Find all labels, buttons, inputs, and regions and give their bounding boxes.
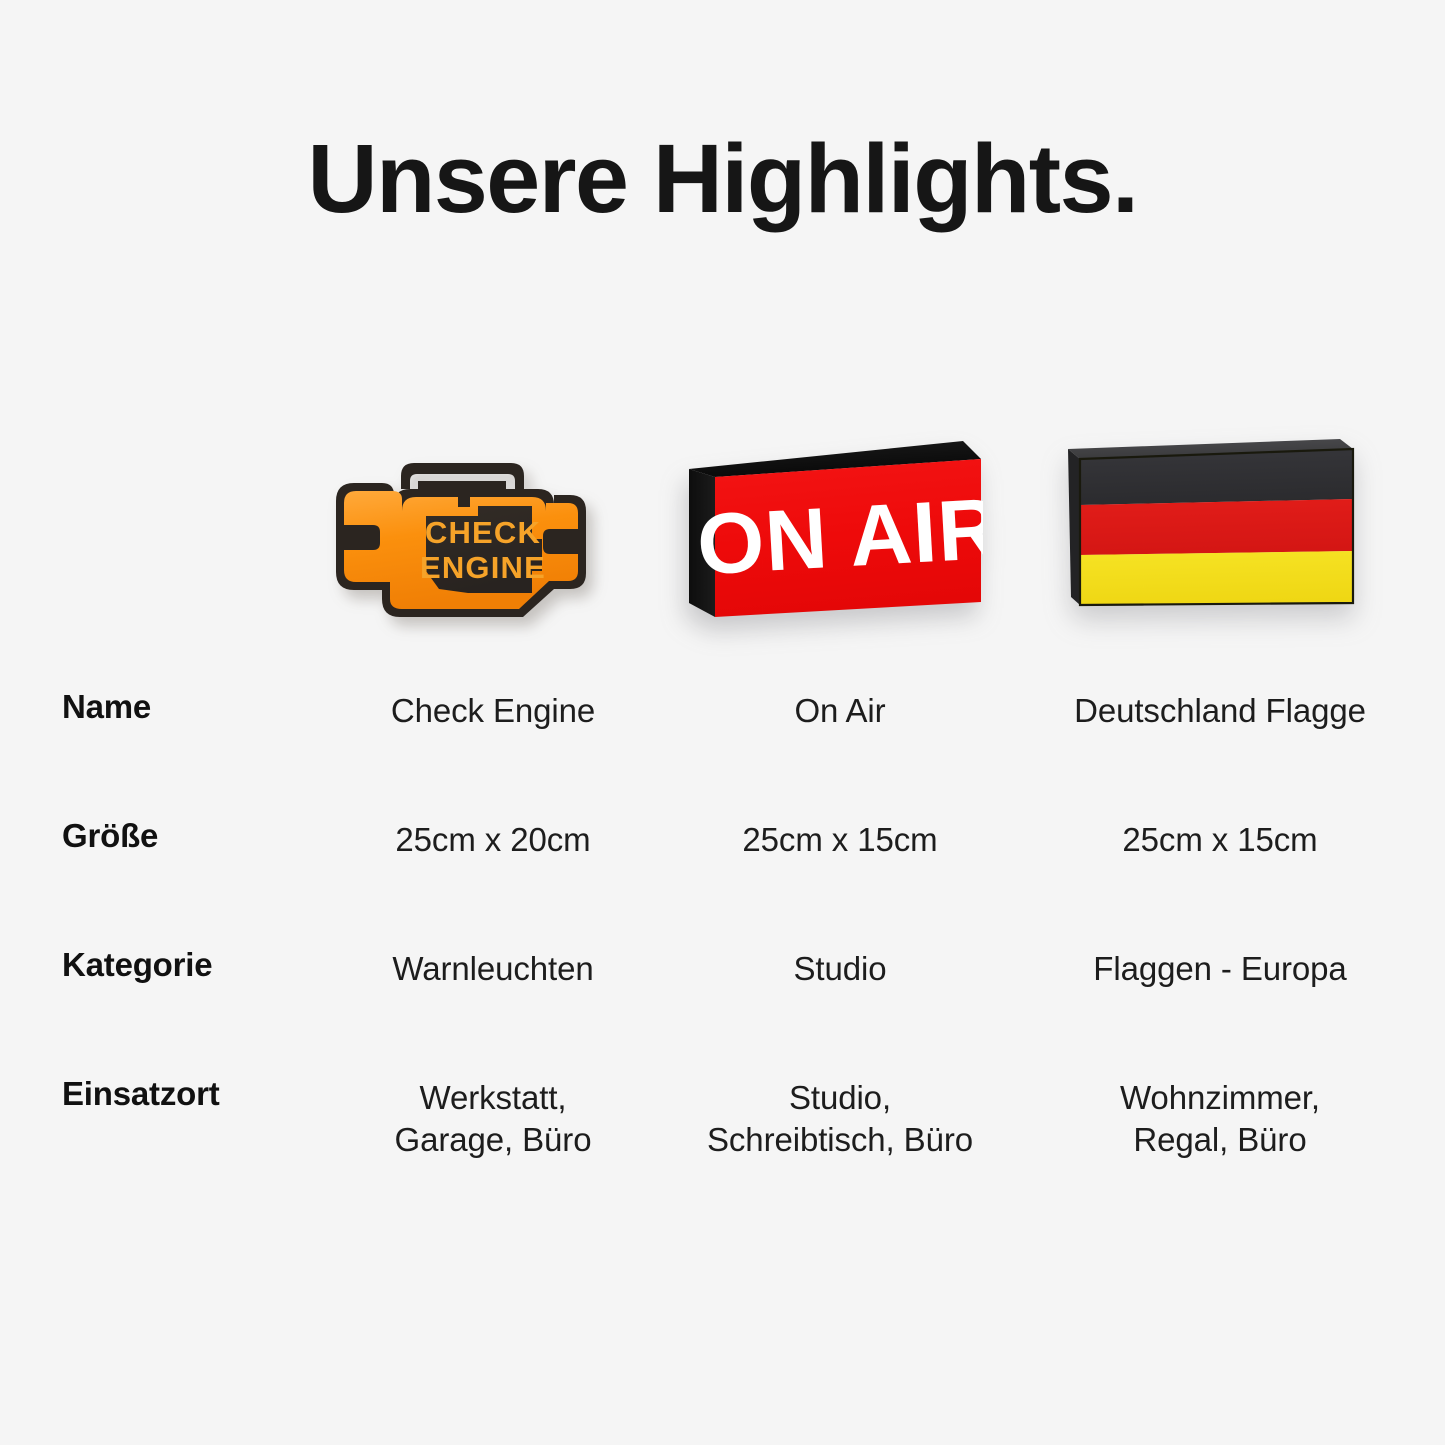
cell-einsatzort-check-engine: Werkstatt, Garage, Büro	[328, 1077, 658, 1161]
check-engine-lamp-icon: CHECK ENGINE	[318, 421, 628, 646]
cell-line-1: Studio,	[660, 1077, 1020, 1119]
cell-name-on-air: On Air	[660, 690, 1020, 732]
highlights-infographic: Unsere Highlights.	[0, 0, 1445, 1445]
cell-line-1: Wohnzimmer,	[1020, 1077, 1420, 1119]
table-row-einsatzort: Einsatzort Werkstatt, Garage, Büro Studi…	[0, 1077, 1445, 1227]
cell-einsatzort-on-air: Studio, Schreibtisch, Büro	[660, 1077, 1020, 1161]
cell-line-1: Werkstatt,	[328, 1077, 658, 1119]
product-image-on-air: ON AIR	[645, 415, 1045, 670]
cell-kategorie-deutschland-flagge: Flaggen - Europa	[1020, 948, 1420, 990]
on-air-lightbox-icon: ON AIR	[663, 429, 983, 644]
germany-flag-lightbox-icon	[1058, 427, 1358, 627]
table-row-groesse: Größe 25cm x 20cm 25cm x 15cm 25cm x 15c…	[0, 819, 1445, 948]
cell-groesse-check-engine: 25cm x 20cm	[328, 819, 658, 861]
table-row-kategorie: Kategorie Warnleuchten Studio Flaggen - …	[0, 948, 1445, 1077]
cell-line-2: Regal, Büro	[1020, 1119, 1420, 1161]
page-title: Unsere Highlights.	[0, 130, 1445, 227]
check-engine-label-line2: ENGINE	[420, 550, 546, 585]
cell-name-deutschland-flagge: Deutschland Flagge	[1020, 690, 1420, 732]
row-label-name: Name	[62, 690, 342, 725]
table-row-name: Name Check Engine On Air Deutschland Fla…	[0, 690, 1445, 819]
on-air-label: ON AIR	[695, 481, 983, 594]
cell-kategorie-on-air: Studio	[660, 948, 1020, 990]
row-label-einsatzort: Einsatzort	[62, 1077, 342, 1112]
row-label-groesse: Größe	[62, 819, 342, 854]
cell-kategorie-check-engine: Warnleuchten	[328, 948, 658, 990]
cell-groesse-on-air: 25cm x 15cm	[660, 819, 1020, 861]
product-image-check-engine: CHECK ENGINE	[248, 415, 688, 670]
cell-einsatzort-deutschland-flagge: Wohnzimmer, Regal, Büro	[1020, 1077, 1420, 1161]
product-image-row: CHECK ENGINE	[0, 415, 1445, 670]
cell-line-2: Schreibtisch, Büro	[660, 1119, 1020, 1161]
product-image-deutschland-flagge	[1020, 415, 1420, 670]
cell-groesse-deutschland-flagge: 25cm x 15cm	[1020, 819, 1420, 861]
check-engine-label-line1: CHECK	[425, 515, 541, 550]
spec-table: Name Check Engine On Air Deutschland Fla…	[0, 690, 1445, 1227]
cell-name-check-engine: Check Engine	[328, 690, 658, 732]
cell-line-2: Garage, Büro	[328, 1119, 658, 1161]
row-label-kategorie: Kategorie	[62, 948, 342, 983]
